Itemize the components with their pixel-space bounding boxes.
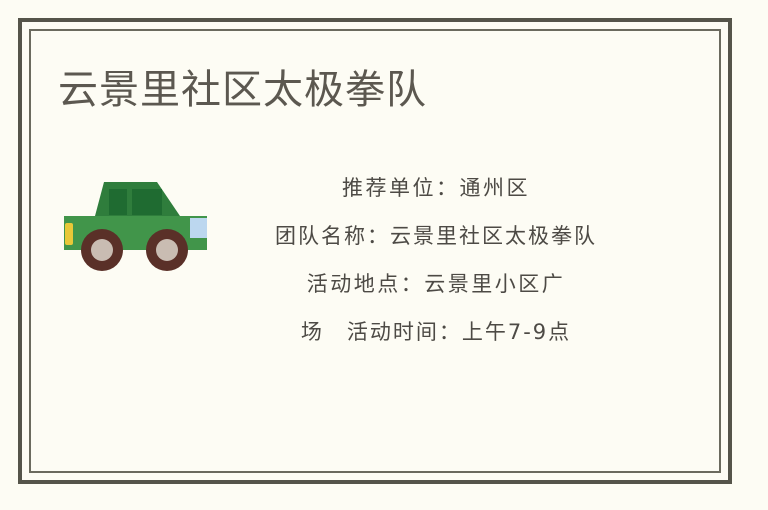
detail-line-activity-place: 活动地点：云景里小区广 (216, 260, 656, 308)
green-pickup-truck-icon (60, 168, 216, 272)
detail-line-team-name: 团队名称：云景里社区太极拳队 (216, 212, 656, 260)
detail-line-activity-time: 场 活动时间：上午7-9点 (216, 308, 656, 356)
poster-details: 推荐单位：通州区 团队名称：云景里社区太极拳队 活动地点：云景里小区广 场 活动… (216, 164, 656, 356)
detail-line-recommending-unit: 推荐单位：通州区 (216, 164, 656, 212)
page-title: 云景里社区太极拳队 (58, 63, 427, 117)
poster-card: 云景里社区太极拳队 推荐单位：通州区 团队名称：云景里社区太极拳队 (0, 0, 768, 510)
